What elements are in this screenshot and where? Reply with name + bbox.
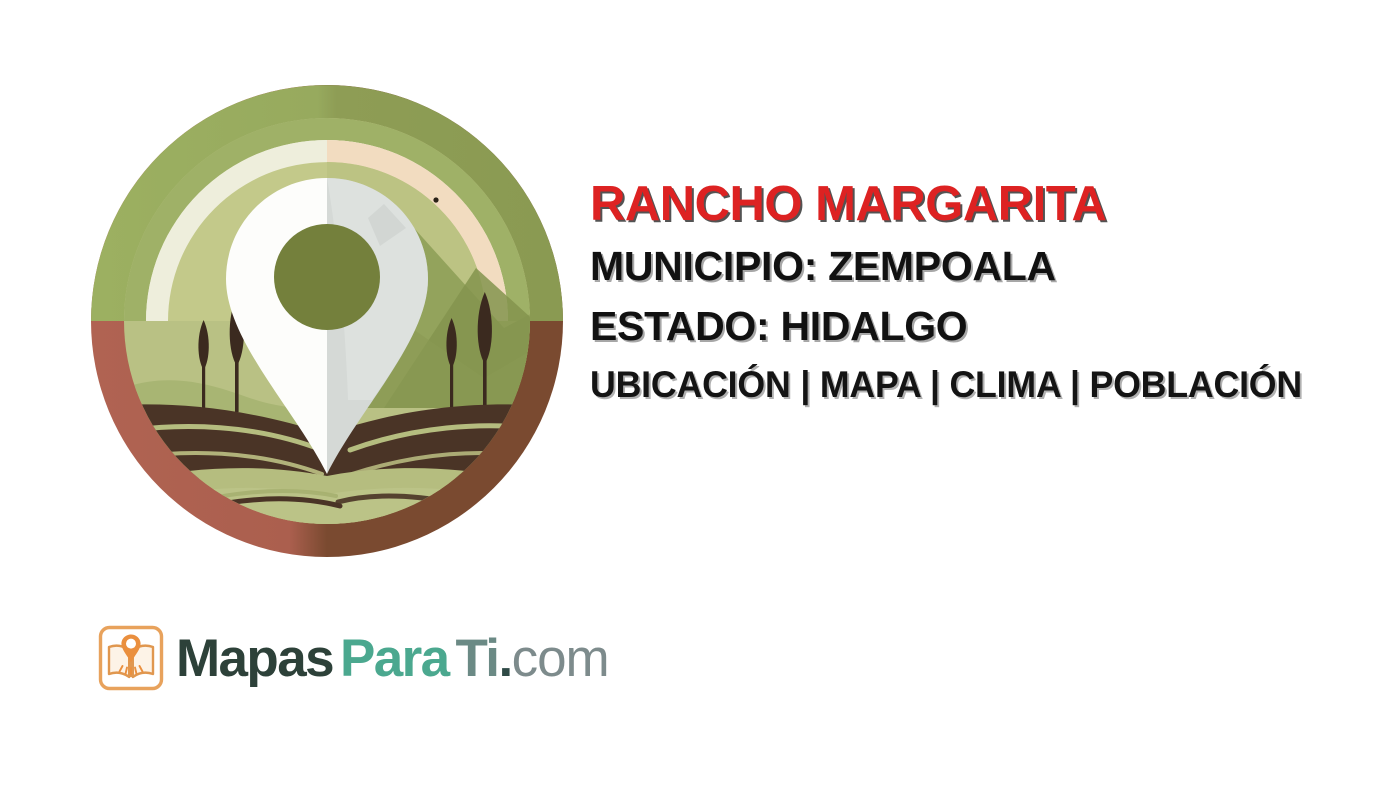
open-book-map-pin-icon: [98, 625, 164, 691]
page-title: RANCHO MARGARITA: [590, 180, 1390, 232]
brand-word-dot: .: [498, 632, 511, 685]
brand-word-ti: Ti: [455, 632, 498, 685]
brand-word-mapas: Mapas: [176, 632, 333, 685]
bird-dot: [433, 197, 438, 202]
location-info-block: RANCHO MARGARITA MUNICIPIO: ZEMPOALA EST…: [590, 180, 1390, 408]
emblem-illustration: [84, 78, 570, 564]
brand-logo[interactable]: Mapas Para Ti . com: [98, 622, 609, 694]
brand-word-para: Para: [340, 632, 449, 685]
rural-landscape-map-pin-emblem: [84, 78, 570, 564]
section-links[interactable]: UBICACIÓN | MAPA | CLIMA | POBLACIÓN: [590, 366, 1362, 408]
page-root: RANCHO MARGARITA MUNICIPIO: ZEMPOALA EST…: [0, 0, 1400, 786]
estado-label: ESTADO: HIDALGO: [590, 306, 1390, 350]
brand-wordmark: Mapas Para Ti . com: [176, 632, 609, 685]
brand-word-com: com: [512, 632, 609, 685]
municipio-label: MUNICIPIO: ZEMPOALA: [590, 246, 1390, 290]
